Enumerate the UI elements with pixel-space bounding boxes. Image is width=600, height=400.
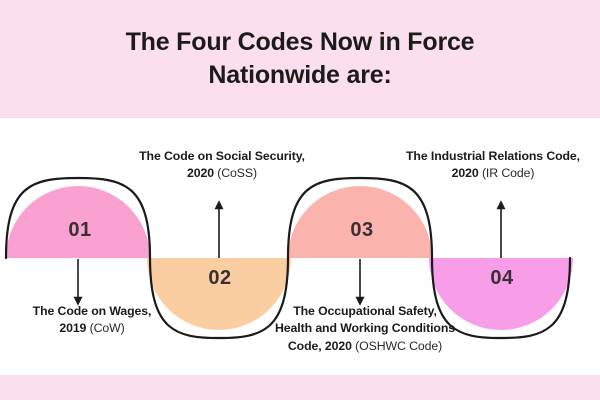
connector-03: [357, 259, 363, 304]
label-line: 2019 (CoW): [2, 320, 182, 337]
step-number-03: 03: [322, 219, 402, 242]
step-number-02: 02: [180, 267, 260, 290]
label-text: 2019: [59, 321, 89, 335]
label-line: The Code on Wages,: [2, 303, 182, 320]
label-abbreviation: (OSHWC Code): [355, 339, 442, 353]
connector-04: [498, 202, 504, 258]
step-label-03: The Occupational Safety,Health and Worki…: [250, 303, 480, 355]
label-line: The Code on Social Security,: [112, 148, 332, 165]
label-line: 2020 (IR Code): [386, 165, 600, 182]
label-line: Health and Working Conditions: [250, 320, 480, 337]
label-text: 2020: [187, 166, 217, 180]
label-text: The Code on Social Security,: [139, 149, 305, 163]
label-text: Health and Working Conditions: [275, 321, 455, 335]
title-line-1: The Four Codes Now in Force: [126, 28, 475, 56]
label-line: The Occupational Safety,: [250, 303, 480, 320]
label-line: The Industrial Relations Code,: [386, 148, 600, 165]
label-abbreviation: (IR Code): [482, 166, 534, 180]
step-number-01: 01: [40, 219, 120, 242]
title-line-2: Nationwide are:: [0, 59, 600, 92]
step-label-04: The Industrial Relations Code,2020 (IR C…: [386, 148, 600, 183]
step-number-04: 04: [462, 267, 542, 290]
label-text: 2020: [452, 166, 482, 180]
label-line: 2020 (CoSS): [112, 165, 332, 182]
step-label-02: The Code on Social Security,2020 (CoSS): [112, 148, 332, 183]
infographic-canvas: The Four Codes Now in Force Nationwide a…: [0, 0, 600, 400]
connector-01: [75, 259, 81, 304]
label-text: The Occupational Safety,: [293, 304, 437, 318]
bottom-pink-band: [0, 375, 600, 400]
label-abbreviation: (CoSS): [217, 166, 257, 180]
label-text: The Code on Wages,: [33, 304, 152, 318]
label-text: Code, 2020: [288, 339, 355, 353]
connector-02: [216, 202, 222, 258]
page-title: The Four Codes Now in Force Nationwide a…: [0, 26, 600, 91]
label-text: The Industrial Relations Code,: [406, 149, 580, 163]
label-abbreviation: (CoW): [90, 321, 125, 335]
label-line: Code, 2020 (OSHWC Code): [250, 338, 480, 355]
step-label-01: The Code on Wages,2019 (CoW): [2, 303, 182, 338]
